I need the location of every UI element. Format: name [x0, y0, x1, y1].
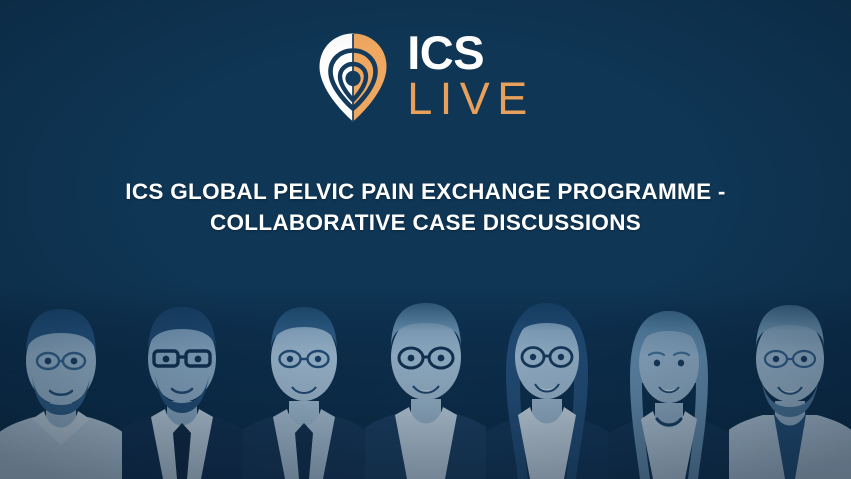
- ics-live-logo: ICS LIVE: [0, 28, 851, 124]
- speaker-portrait-4: [365, 279, 487, 479]
- page-title: ICS GLOBAL PELVIC PAIN EXCHANGE PROGRAMM…: [0, 176, 851, 238]
- slide-canvas: ICS LIVE ICS GLOBAL PELVIC PAIN EXCHANGE…: [0, 0, 851, 479]
- speaker-portrait-2: [122, 279, 244, 479]
- speaker-portrait-3: [243, 279, 365, 479]
- speaker-portrait-1: [0, 279, 122, 479]
- page-title-line-1: ICS GLOBAL PELVIC PAIN EXCHANGE PROGRAMM…: [60, 176, 791, 207]
- ics-droplet-logo-mark: [316, 30, 390, 122]
- logo-wordmark: ICS LIVE: [407, 30, 535, 122]
- logo-text-live: LIVE: [407, 76, 535, 122]
- speaker-portrait-5: [486, 279, 608, 479]
- speaker-portrait-strip: [0, 279, 851, 479]
- speaker-portrait-7: [729, 279, 851, 479]
- logo-text-ics: ICS: [407, 30, 535, 75]
- speaker-portrait-6: [608, 279, 730, 479]
- page-title-line-2: COLLABORATIVE CASE DISCUSSIONS: [60, 207, 791, 238]
